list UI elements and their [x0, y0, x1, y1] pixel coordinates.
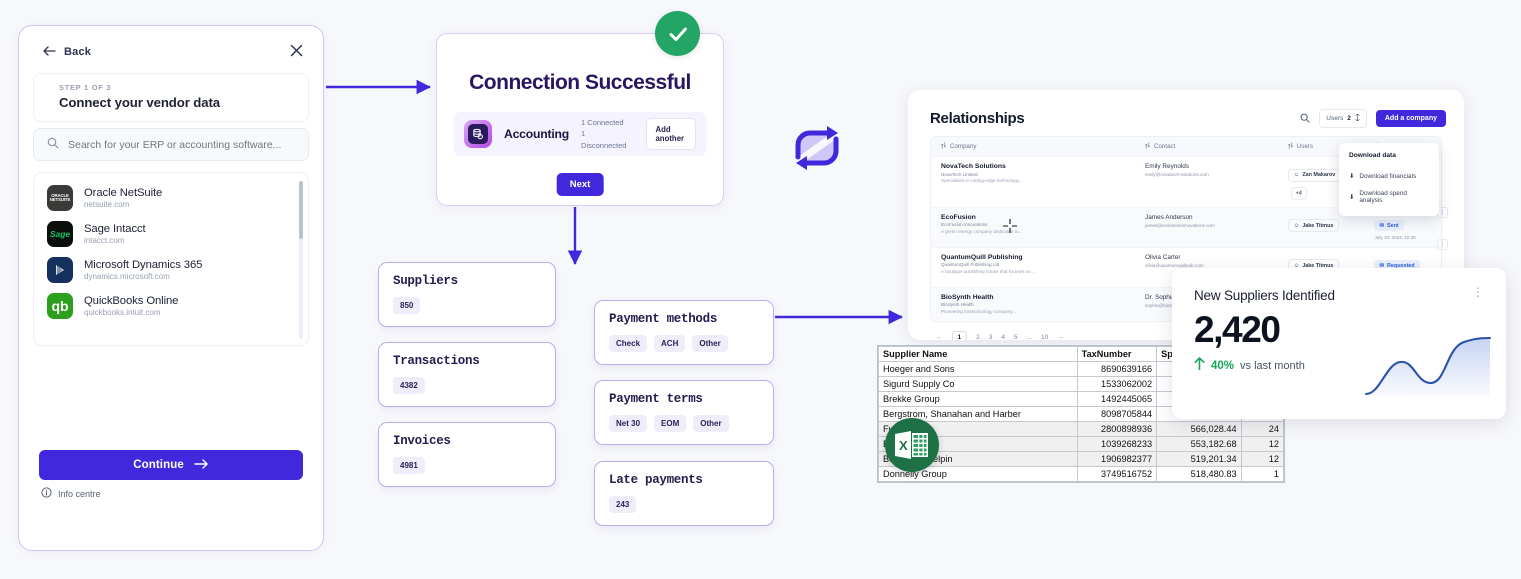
column-header-supplier-name: Supplier Name: [879, 347, 1078, 362]
payment-card-title: Payment methods: [609, 312, 759, 326]
step-header-card: STEP 1 OF 3 Connect your vendor data: [33, 73, 309, 122]
cell-spend: 518,480.83: [1157, 467, 1241, 482]
company-legal-name: EcoFusion Innovations: [941, 222, 1135, 227]
contact-email: james@ecofusioninnovations.com: [1145, 223, 1278, 228]
vendor-name: Sage Intacct: [84, 223, 146, 235]
vendor-name: QuickBooks Online: [84, 295, 178, 307]
cell-taxnumber: 1492445065: [1077, 392, 1156, 407]
oracle-netsuite-logo-icon: ORACLE NETSUITE: [47, 185, 73, 211]
cell-taxnumber: 1906982377: [1077, 452, 1156, 467]
users-filter-dropdown[interactable]: Users 2: [1319, 109, 1367, 128]
integration-row: Accounting 1 Connected 1 Disconnected Ad…: [453, 112, 707, 156]
back-label: Back: [64, 46, 91, 58]
column-header-taxnumber: TaxNumber: [1077, 347, 1156, 362]
download-spend-analysis-item[interactable]: ⬇ Download spend analysis: [1339, 185, 1439, 209]
onboarding-header: Back: [19, 26, 323, 67]
page-10[interactable]: 10: [1041, 334, 1048, 341]
user-overflow-chip[interactable]: +4: [1291, 187, 1307, 200]
envelope-icon: ✉: [1379, 223, 1384, 229]
download-icon: ⬇: [1349, 193, 1354, 201]
success-check-icon: [655, 11, 700, 56]
company-name: NovaTech Solutions: [941, 163, 1135, 170]
vendor-list[interactable]: ORACLE NETSUITE Oracle NetSuite netsuite…: [33, 172, 309, 346]
payment-card-title: Payment terms: [609, 392, 759, 406]
cell-taxnumber: 1039268233: [1077, 437, 1156, 452]
entity-card-invoices[interactable]: Invoices 4981: [378, 422, 556, 487]
kpi-card-new-suppliers: New Suppliers Identified ⋮ 2,420 40% vs …: [1172, 268, 1506, 419]
company-description: Pioneering biotechnology company...: [941, 309, 1135, 314]
vendor-url: netsuite.com: [84, 200, 162, 209]
quickbooks-logo-icon: qb: [47, 293, 73, 319]
chip: 850: [393, 297, 420, 314]
payment-card-title: Late payments: [609, 473, 759, 487]
cell-spend: 566,028.44: [1157, 422, 1241, 437]
disconnected-count: 1 Disconnected: [581, 128, 626, 151]
continue-label: Continue: [133, 459, 184, 471]
filter-count: 2: [1347, 115, 1351, 122]
vendor-list-scrollbar[interactable]: [299, 181, 303, 339]
info-centre-link[interactable]: Info centre: [41, 487, 101, 500]
step-title: Connect your vendor data: [59, 95, 294, 110]
cell-supplier-name: Sigurd Supply Co: [879, 377, 1078, 392]
status-badge: ✉ Sent: [1374, 220, 1403, 231]
microsoft-dynamics-logo-icon: [47, 257, 73, 283]
cell-taxnumber: 8690639166: [1077, 362, 1156, 377]
connection-title: Connection Successful: [437, 71, 723, 95]
vendor-search-box[interactable]: [33, 128, 309, 161]
contact-email: emily@novatech-solutions.com: [1145, 172, 1278, 177]
search-icon: [47, 136, 59, 154]
filter-label: Users: [1326, 115, 1343, 122]
kpi-sparkline: [1364, 334, 1492, 405]
sage-logo-icon: Sage: [47, 221, 73, 247]
cell-supplier-name: Hoeger and Sons: [879, 362, 1078, 377]
chip: Other: [693, 415, 728, 432]
flow-diagram-canvas: Back STEP 1 OF 3 Connect your vendor dat…: [0, 0, 1521, 579]
sort-icon: [1288, 142, 1293, 151]
company-legal-name: BioSynth Health: [941, 302, 1135, 307]
cell-extra: 24: [1241, 422, 1283, 437]
relationships-header: Relationships Users 2 Add a company: [908, 90, 1464, 136]
chip: 4981: [393, 457, 425, 474]
payment-card-late[interactable]: Late payments 243: [594, 461, 774, 526]
cell-taxnumber: 3749516752: [1077, 467, 1156, 482]
accounting-icon: [464, 120, 492, 148]
close-icon[interactable]: [290, 44, 303, 61]
download-menu-heading: Download data: [1339, 150, 1439, 167]
connected-count: 1 Connected: [581, 117, 626, 129]
table-row[interactable]: Bo y and Koelpin 1906982377 519,201.34 1…: [879, 452, 1284, 467]
contact-name: James Anderson: [1145, 214, 1278, 221]
table-row[interactable]: Donnelly Group 3749516752 518,480.83 1: [879, 467, 1284, 482]
chip: EOM: [654, 415, 686, 432]
sync-icon: [786, 123, 848, 178]
kpi-menu-icon[interactable]: ⋮: [1472, 288, 1484, 296]
column-header-contact[interactable]: Contact: [1135, 142, 1278, 151]
vendor-name: Microsoft Dynamics 365: [84, 259, 202, 271]
list-item[interactable]: Microsoft Dynamics 365 dynamics.microsof…: [34, 252, 308, 288]
page-title: Relationships: [930, 110, 1024, 127]
cell-extra: 12: [1241, 437, 1283, 452]
sort-icon: [941, 142, 946, 151]
cell-supplier-name: Brekke Group: [879, 392, 1078, 407]
prev-page-icon[interactable]: ←: [936, 334, 943, 341]
chip: Check: [609, 335, 647, 352]
entity-card-suppliers[interactable]: Suppliers 850: [378, 262, 556, 327]
info-centre-label: Info centre: [58, 489, 101, 499]
add-another-button[interactable]: Add another: [646, 118, 696, 150]
entity-card-title: Transactions: [393, 354, 541, 368]
sort-icon: [1145, 142, 1150, 151]
arrow-up-icon: [1194, 357, 1205, 375]
entity-card-transactions[interactable]: Transactions 4382: [378, 342, 556, 407]
contact-name: Emily Reynolds: [1145, 163, 1278, 170]
kpi-title: New Suppliers Identified: [1194, 288, 1335, 303]
integration-counts: 1 Connected 1 Disconnected: [581, 117, 626, 152]
chevron-down-icon: [1355, 114, 1360, 123]
download-financials-item[interactable]: ⬇ Download financials: [1339, 167, 1439, 185]
kpi-header: New Suppliers Identified ⋮: [1172, 268, 1506, 303]
user-chip[interactable]: ☺ Zan Makarov: [1288, 169, 1341, 182]
chip: Other: [692, 335, 727, 352]
user-name: Zan Makarov: [1302, 172, 1335, 178]
kpi-delta-caption: vs last month: [1240, 360, 1305, 372]
payment-card-terms[interactable]: Payment terms Net 30 EOM Other: [594, 380, 774, 445]
text-cursor-icon: [1003, 219, 1017, 233]
entity-card-title: Suppliers: [393, 274, 541, 288]
status-timestamp: July 10, 2024, 10:30: [1374, 235, 1441, 240]
page-ellipsis: ...: [1027, 334, 1032, 341]
chip: ACH: [654, 335, 685, 352]
vendor-url: intacct.com: [84, 236, 146, 245]
cell-taxnumber: 1533062002: [1077, 377, 1156, 392]
user-chip[interactable]: ☺ Jake Titmus: [1288, 219, 1340, 232]
cell-spend: 553,182.68: [1157, 437, 1241, 452]
cell-spend: 519,201.34: [1157, 452, 1241, 467]
user-name: Jake Titmus: [1302, 223, 1333, 229]
vendor-url: quickbooks.intuit.com: [84, 308, 178, 317]
column-header-company[interactable]: Company: [931, 142, 1135, 151]
vendor-url: dynamics.microsoft.com: [84, 272, 202, 281]
user-icon: ☺: [1294, 172, 1300, 178]
integration-name: Accounting: [504, 127, 569, 141]
vendor-name: Oracle NetSuite: [84, 187, 162, 199]
download-data-menu[interactable]: Download data ⬇ Download financials ⬇ Do…: [1339, 143, 1439, 216]
page-1[interactable]: 1: [952, 331, 968, 341]
continue-button[interactable]: Continue: [39, 450, 303, 480]
kpi-delta-value: 40%: [1211, 360, 1234, 372]
arrow-right-icon: [194, 459, 209, 472]
search-input[interactable]: [68, 139, 295, 151]
page-3[interactable]: 3: [989, 334, 993, 341]
company-legal-name: QuantumQuill Publishing Ltd: [941, 262, 1135, 267]
page-4[interactable]: 4: [1001, 334, 1005, 341]
chip: 243: [609, 496, 636, 513]
contact-name: Olivia Carter: [1145, 254, 1278, 261]
back-button[interactable]: Back: [43, 43, 91, 61]
connection-successful-card: Connection Successful Accounting 1 Conne…: [436, 33, 724, 206]
table-row[interactable]: Bo tke inc 1039268233 553,182.68 12: [879, 437, 1284, 452]
relationships-toolbar: Users 2 Add a company: [1300, 109, 1446, 128]
search-icon[interactable]: [1300, 110, 1310, 128]
cell-extra: 1: [1241, 467, 1283, 482]
arrow-left-icon: [43, 43, 56, 61]
list-item[interactable]: qb QuickBooks Online quickbooks.intuit.c…: [34, 288, 308, 324]
chip: 4382: [393, 377, 425, 394]
next-button[interactable]: Next: [557, 173, 604, 196]
entity-card-title: Invoices: [393, 434, 541, 448]
company-legal-name: NovaTech Limited: [941, 172, 1135, 177]
payment-card-methods[interactable]: Payment methods Check ACH Other: [594, 300, 774, 365]
list-item[interactable]: Sage Sage Intacct intacct.com: [34, 216, 308, 252]
page-5[interactable]: 5: [1014, 334, 1018, 341]
company-description: A green energy company dedicated to...: [941, 229, 1135, 234]
company-description: A boutique publishing house that focuses…: [941, 269, 1135, 274]
next-page-icon[interactable]: →: [1057, 334, 1064, 341]
svg-text:X: X: [899, 438, 908, 453]
contact-email: olivia@quantumquillpub.com: [1145, 263, 1278, 268]
company-name: QuantumQuill Publishing: [941, 254, 1135, 261]
company-name: EcoFusion: [941, 214, 1135, 221]
download-icon: ⬇: [1349, 172, 1354, 180]
company-name: BioSynth Health: [941, 294, 1135, 301]
row-menu-icon[interactable]: ⋮: [1437, 239, 1448, 250]
table-row[interactable]: Fu 2800898936 566,028.44 24: [879, 422, 1284, 437]
company-description: Specialises in cutting-edge technology..…: [941, 178, 1135, 183]
cell-taxnumber: 8098705844: [1077, 407, 1156, 422]
step-kicker: STEP 1 OF 3: [59, 83, 294, 92]
cell-extra: 12: [1241, 452, 1283, 467]
onboarding-panel: Back STEP 1 OF 3 Connect your vendor dat…: [18, 25, 324, 551]
excel-icon: X: [885, 418, 939, 472]
user-icon: ☺: [1294, 223, 1300, 229]
info-icon: [41, 487, 52, 500]
list-item[interactable]: ORACLE NETSUITE Oracle NetSuite netsuite…: [34, 180, 308, 216]
chip: Net 30: [609, 415, 647, 432]
add-company-button[interactable]: Add a company: [1376, 110, 1446, 127]
cell-taxnumber: 2800898936: [1077, 422, 1156, 437]
page-2[interactable]: 2: [976, 334, 980, 341]
